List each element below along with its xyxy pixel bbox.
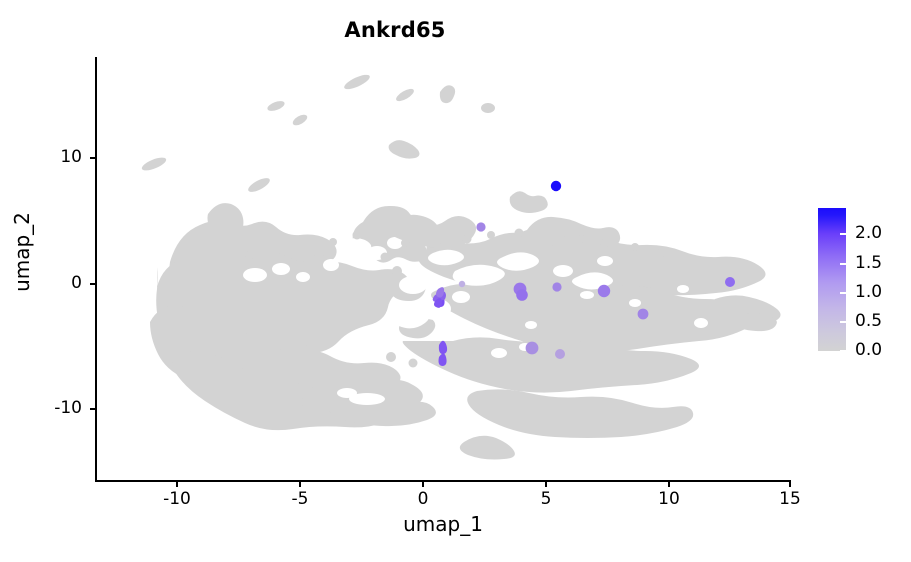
y-tick-mark bbox=[90, 283, 95, 285]
colorbar-tick-mark bbox=[840, 233, 846, 235]
x-tick-mark bbox=[299, 482, 301, 487]
x-axis-spine bbox=[95, 480, 791, 482]
x-tick-mark bbox=[176, 482, 178, 487]
colorbar-label: 1.0 bbox=[855, 282, 882, 302]
y-axis-spine bbox=[95, 57, 97, 482]
figure-root: Ankrd65 bbox=[0, 0, 911, 562]
colorbar-label: 1.5 bbox=[855, 253, 882, 273]
colorbar-label: 2.0 bbox=[855, 223, 882, 243]
scatter-plot-area bbox=[95, 57, 790, 481]
x-tick-mark bbox=[789, 482, 791, 487]
colorbar-label: 0.0 bbox=[855, 340, 882, 360]
x-tick-label: 15 bbox=[760, 489, 820, 509]
x-tick-mark bbox=[422, 482, 424, 487]
x-tick-mark bbox=[545, 482, 547, 487]
gray-point-cloud bbox=[140, 72, 780, 459]
x-tick-label: 10 bbox=[639, 489, 699, 509]
colorbar-label: 0.5 bbox=[855, 311, 882, 331]
x-axis-label: umap_1 bbox=[95, 512, 791, 536]
colorbar-tick-mark bbox=[840, 263, 846, 265]
colorbar-tick-mark bbox=[840, 292, 846, 294]
colorbar-tick-mark bbox=[840, 321, 846, 323]
page-title: Ankrd65 bbox=[0, 18, 790, 42]
x-tick-label: -5 bbox=[270, 489, 330, 509]
y-tick-mark bbox=[90, 408, 95, 410]
x-tick-mark bbox=[668, 482, 670, 487]
x-tick-label: 5 bbox=[516, 489, 576, 509]
y-axis-label: umap_2 bbox=[10, 172, 34, 332]
y-tick-label: -10 bbox=[20, 398, 82, 418]
x-tick-label: 0 bbox=[393, 489, 453, 509]
scatter-svg bbox=[95, 57, 790, 481]
colorbar-tick-mark bbox=[840, 350, 846, 352]
colorbar-gradient bbox=[818, 208, 846, 351]
x-tick-label: -10 bbox=[147, 489, 207, 509]
y-tick-mark bbox=[90, 157, 95, 159]
y-tick-label: 10 bbox=[20, 147, 82, 167]
